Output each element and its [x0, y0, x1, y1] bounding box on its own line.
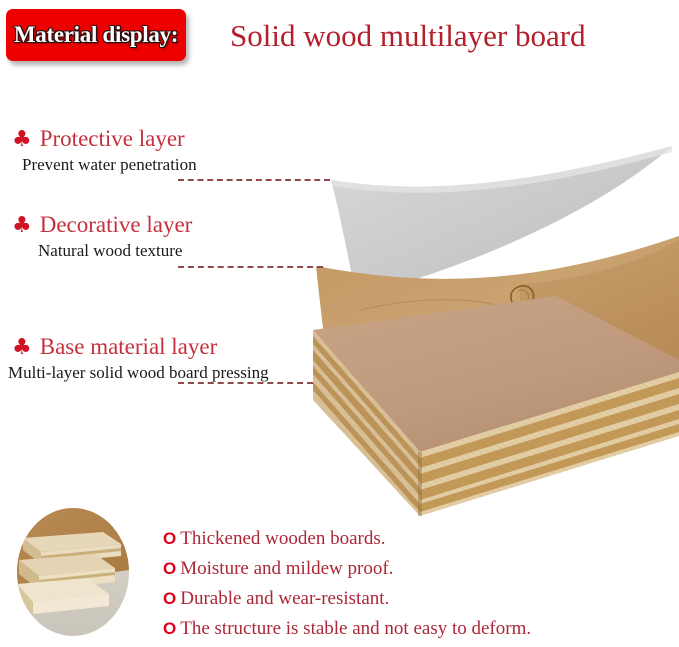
list-item-text: The structure is stable and not easy to … [180, 617, 531, 641]
layer-subtitle: Multi-layer solid wood board pressing [8, 362, 269, 384]
layer-title: Decorative layer [40, 212, 193, 238]
callout-protective-layer: ♣ Protective layer Prevent water penetra… [12, 126, 197, 176]
connector-line-decorative [178, 266, 323, 268]
layer-title: Protective layer [40, 126, 185, 152]
connector-line-base [178, 382, 313, 384]
layer-subtitle: Natural wood texture [38, 240, 192, 262]
list-item: O Thickened wooden boards. [163, 527, 663, 557]
plywood-stack-photo [17, 508, 129, 636]
club-icon: ♣ [12, 337, 32, 359]
list-item-text: Thickened wooden boards. [180, 527, 385, 551]
layer-title: Base material layer [40, 334, 218, 360]
callout-base-material-layer: ♣ Base material layer Multi-layer solid … [12, 334, 269, 384]
features-list: O Thickened wooden boards. O Moisture an… [163, 527, 663, 647]
ring-bullet-icon: O [163, 590, 176, 607]
callout-decorative-layer: ♣ Decorative layer Natural wood texture [12, 212, 192, 262]
base-material-block [313, 296, 679, 516]
list-item: O Moisture and mildew proof. [163, 557, 663, 587]
material-display-badge: Material display: [6, 9, 186, 61]
ring-bullet-icon: O [163, 620, 176, 637]
ring-bullet-icon: O [163, 530, 176, 547]
list-item: O The structure is stable and not easy t… [163, 617, 663, 647]
list-item-text: Durable and wear-resistant. [180, 587, 389, 611]
plywood-edge-right [420, 372, 679, 516]
layer-subtitle: Prevent water penetration [22, 154, 197, 176]
material-display-page: Material display: Solid wood multilayer … [0, 0, 679, 647]
ring-bullet-icon: O [163, 560, 176, 577]
connector-line-protective [178, 179, 330, 181]
badge-label: Material display: [6, 9, 186, 61]
club-icon: ♣ [12, 129, 32, 151]
wood-knot-detail [511, 286, 534, 309]
decorative-veneer-layer [316, 236, 679, 438]
protective-layer-sheet [331, 146, 672, 296]
page-title: Solid wood multilayer board [230, 17, 586, 55]
plywood-edge-left [313, 330, 420, 516]
club-icon: ♣ [12, 215, 32, 237]
list-item: O Durable and wear-resistant. [163, 587, 663, 617]
list-item-text: Moisture and mildew proof. [180, 557, 393, 581]
